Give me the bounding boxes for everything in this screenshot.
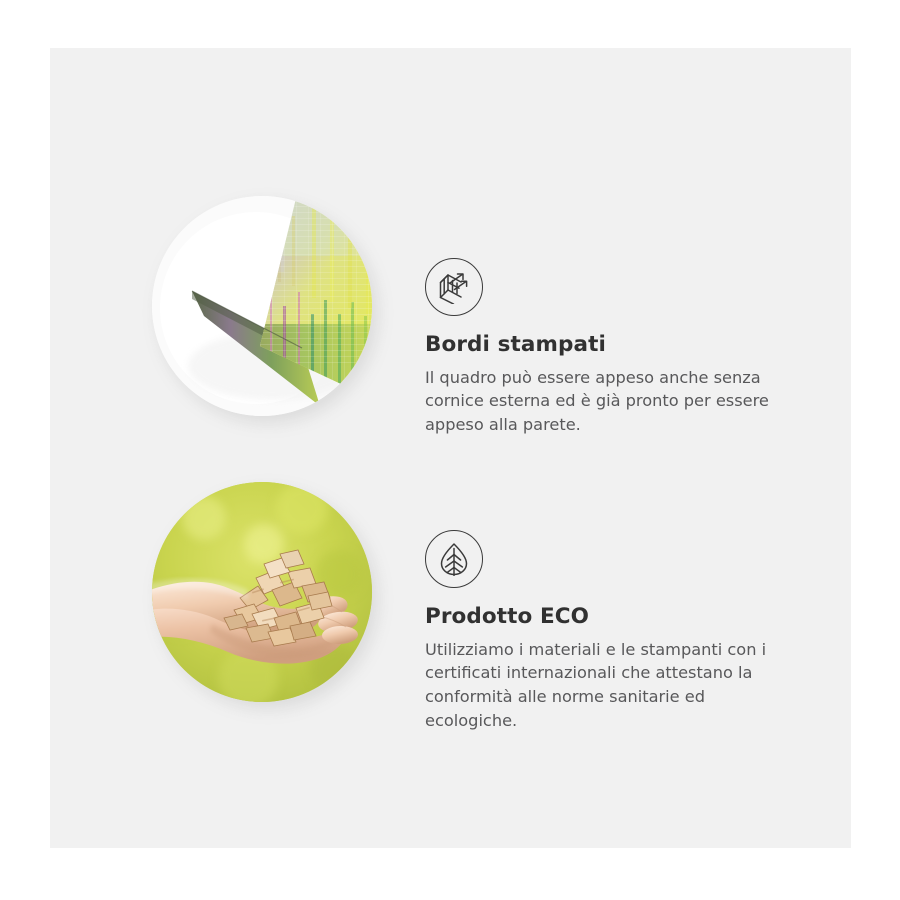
feature-text-printed-edges: Bordi stampati Il quadro può essere appe… [425,196,800,437]
feature-description: Il quadro può essere appeso anche senza … [425,366,793,437]
feature-description: Utilizziamo i materiali e le stampanti c… [425,638,793,733]
leaf-icon [425,530,483,588]
feature-block-eco-product: Prodotto ECO Utilizziamo i materiali e l… [50,482,851,762]
canvas-corner-photo [152,196,372,416]
canvas-wrapped-edge-icon [425,258,483,316]
infographic-page: Bordi stampati Il quadro può essere appe… [0,0,900,900]
feature-block-printed-edges: Bordi stampati Il quadro può essere appe… [50,196,851,466]
feature-title: Prodotto ECO [425,604,800,630]
feature-title: Bordi stampati [425,332,800,358]
content-panel: Bordi stampati Il quadro può essere appe… [50,48,851,848]
feature-text-eco-product: Prodotto ECO Utilizziamo i materiali e l… [425,482,800,732]
hands-holding-wood-chips-photo [152,482,372,702]
